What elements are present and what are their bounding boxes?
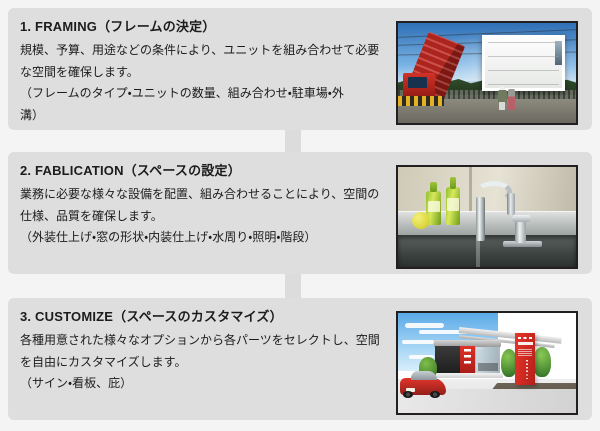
step-description-line: 仕様、品質を確保します。 bbox=[20, 206, 390, 228]
step-title: 1. FRAMING（フレームの決定） bbox=[20, 17, 390, 37]
step-description-line: （フレームのタイプ・ユニットの数量、組み合わせ・駐車場・外 bbox=[20, 83, 390, 105]
stainless-sink-faucet-photo bbox=[396, 165, 578, 269]
step-image-column bbox=[396, 17, 586, 125]
step-description-line: 業務に必要な様々な設備を配置、組み合わせることにより、空間の bbox=[20, 184, 390, 206]
step-description: 業務に必要な様々な設備を配置、組み合わせることにより、空間の 仕様、品質を確保し… bbox=[20, 184, 390, 249]
step-text-column: 2. FABLICATION（スペースの設定） 業務に必要な様々な設備を配置、組… bbox=[20, 161, 396, 249]
step-panel-customize: 3. CUSTOMIZE（スペースのカスタマイズ） 各種用意された様々なオプショ… bbox=[8, 298, 592, 420]
step-description: 規模、予算、用途などの条件により、ユニットを組み合わせて必要 な空間を確保します… bbox=[20, 40, 390, 126]
crane-lifting-module-photo bbox=[396, 21, 578, 125]
step-panel-fablication: 2. FABLICATION（スペースの設定） 業務に必要な様々な設備を配置、組… bbox=[8, 152, 592, 274]
step-panel-framing: 1. FRAMING（フレームの決定） 規模、予算、用途などの条件により、ユニッ… bbox=[8, 8, 592, 130]
step-image-column bbox=[396, 307, 586, 415]
step-text-column: 1. FRAMING（フレームの決定） 規模、予算、用途などの条件により、ユニッ… bbox=[20, 17, 396, 126]
step-title: 3. CUSTOMIZE（スペースのカスタマイズ） bbox=[20, 307, 390, 327]
step-description-line: を自由にカスタマイズします。 bbox=[20, 352, 390, 374]
step-description-line: （サイン・看板、庇） bbox=[20, 373, 390, 395]
step-description: 各種用意された様々なオプションから各パーツをセレクトし、空間 を自由にカスタマイ… bbox=[20, 330, 390, 395]
step-image-column bbox=[396, 161, 586, 269]
step-description-line: な空間を確保します。 bbox=[20, 62, 390, 84]
step-description-line: （外装仕上げ・窓の形状・内装仕上げ・水周り・照明・階段） bbox=[20, 227, 390, 249]
step-title: 2. FABLICATION（スペースの設定） bbox=[20, 161, 390, 181]
step-description-line: 各種用意された様々なオプションから各パーツをセレクトし、空間 bbox=[20, 330, 390, 352]
step-description-line: 規模、予算、用途などの条件により、ユニットを組み合わせて必要 bbox=[20, 40, 390, 62]
step-text-column: 3. CUSTOMIZE（スペースのカスタマイズ） 各種用意された様々なオプショ… bbox=[20, 307, 396, 395]
modular-shop-rendering bbox=[396, 311, 578, 415]
step-description-line: 溝） bbox=[20, 105, 390, 127]
process-flow-diagram: 1. FRAMING（フレームの決定） 規模、予算、用途などの条件により、ユニッ… bbox=[0, 0, 600, 431]
